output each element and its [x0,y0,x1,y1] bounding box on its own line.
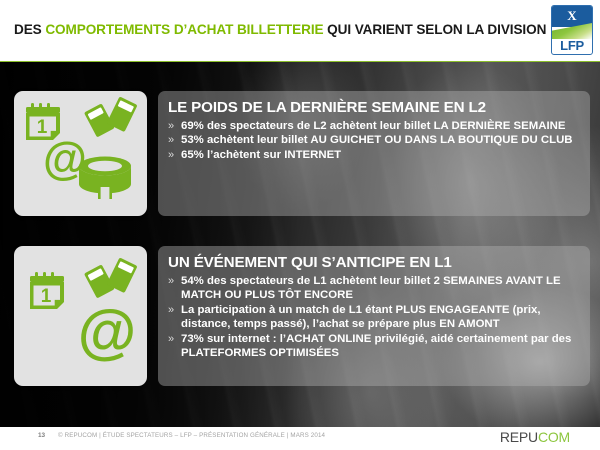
lfp-logo: X LFP [551,5,593,55]
content-background-photo: 1 @ [0,62,600,427]
repucom-logo: REPUCOM [500,429,570,445]
list-item: »La participation à un match de L1 étant… [168,303,580,332]
panel-title-l2: LE POIDS DE LA DERNIÈRE SEMAINE EN L2 [168,98,580,117]
footer-credit: © REPUCOM | ÉTUDE SPECTATEURS – LFP – PR… [58,432,325,439]
calendar-1-icon: 1 [28,270,70,312]
bullet-list-l2: »69% des spectateurs de L2 achètent leur… [168,119,580,162]
slide-footer: 13 © REPUCOM | ÉTUDE SPECTATEURS – LFP –… [0,427,600,450]
text-panel-l1: UN ÉVÉNEMENT QUI S’ANTICIPE EN L1 »54% d… [158,246,590,386]
page-title: DES COMPORTEMENTS D’ACHAT BILLETTERIE QU… [14,22,546,37]
ticket-check-icon [84,256,138,306]
list-item: »73% sur internet : l’ACHAT ONLINE privi… [168,332,580,361]
bullet-text: 65% l’achètent sur INTERNET [181,149,341,161]
calendar-day-label: 1 [41,286,52,307]
page-number: 13 [38,432,45,439]
ticket-check-icon [84,95,138,145]
bullet-text: 69% des spectateurs de L2 achètent leur … [181,120,565,132]
bullet-list-l1: »54% des spectateurs de L1 achètent leur… [168,274,580,360]
chevron-marker-icon: » [168,274,174,288]
chevron-marker-icon: » [168,133,174,147]
list-item: »69% des spectateurs de L2 achètent leur… [168,119,580,133]
lfp-mark-icon: X [552,7,592,25]
bullet-text: 73% sur internet : l’ACHAT ONLINE privil… [181,333,571,359]
page-title-highlight: COMPORTEMENTS D’ACHAT BILLETTERIE [45,22,323,37]
bullet-text: 54% des spectateurs de L1 achètent leur … [181,275,561,301]
calendar-day-label: 1 [37,117,48,138]
page-title-tail: QUI VARIENT SELON LA DIVISION [323,22,546,37]
icon-card-l2: 1 @ [14,91,147,216]
repucom-logo-part-2: COM [538,429,570,445]
svg-text:@: @ [78,302,137,364]
slide: DES COMPORTEMENTS D’ACHAT BILLETTERIE QU… [0,0,600,450]
panel-title-l1: UN ÉVÉNEMENT QUI S’ANTICIPE EN L1 [168,253,580,272]
chevron-marker-icon: » [168,303,174,317]
list-item: »53% achètent leur billet AU GUICHET OU … [168,133,580,147]
slide-header: DES COMPORTEMENTS D’ACHAT BILLETTERIE QU… [0,0,600,62]
text-panel-l2: LE POIDS DE LA DERNIÈRE SEMAINE EN L2 »6… [158,91,590,216]
chevron-marker-icon: » [168,148,174,162]
bullet-text: 53% achètent leur billet AU GUICHET OU D… [181,134,573,146]
chevron-marker-icon: » [168,119,174,133]
lfp-logo-label: LFP [552,38,592,53]
list-item: »65% l’achètent sur INTERNET [168,148,580,162]
repucom-logo-part-1: REPU [500,429,538,445]
stadium-icon [76,154,134,202]
chevron-marker-icon: » [168,332,174,346]
icon-card-l1: 1 @ [14,246,147,386]
bullet-text: La participation à un match de L1 étant … [181,304,541,330]
at-sign-icon: @ [76,302,138,364]
list-item: »54% des spectateurs de L1 achètent leur… [168,274,580,303]
page-title-lead: DES [14,22,45,37]
